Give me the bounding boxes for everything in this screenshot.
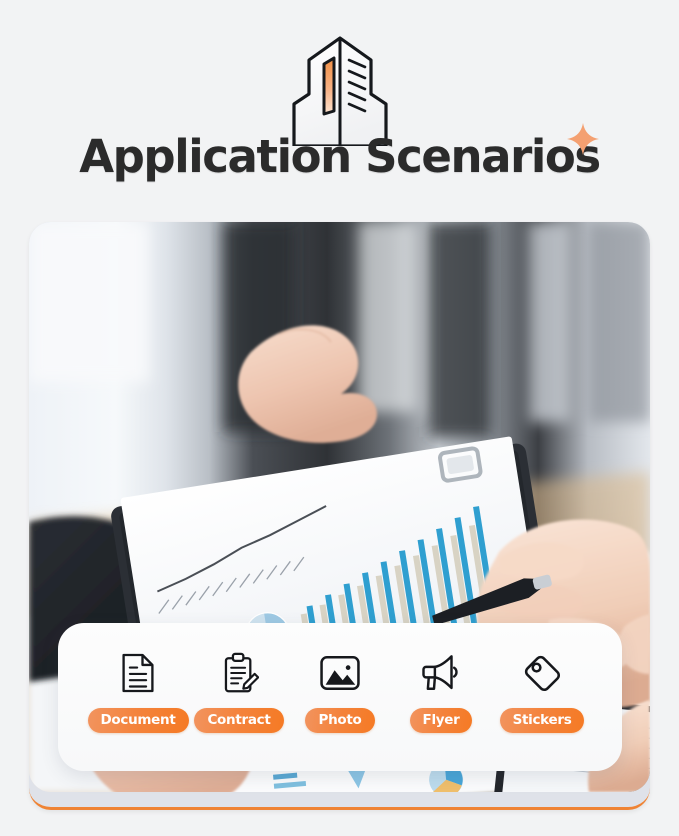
- sparkle-icon: [566, 122, 600, 156]
- scenario-item-flyer[interactable]: Flyer: [391, 650, 491, 733]
- scenario-label-photo[interactable]: Photo: [305, 708, 374, 733]
- scenario-label-stickers[interactable]: Stickers: [500, 708, 585, 733]
- stickers-icon: [522, 650, 562, 696]
- scenario-label-document[interactable]: Document: [88, 708, 189, 733]
- photo-icon: [319, 650, 361, 696]
- document-icon: [120, 650, 156, 696]
- flyer-icon: [420, 650, 462, 696]
- scenario-item-stickers[interactable]: Stickers: [492, 650, 592, 733]
- scenario-item-document[interactable]: Document: [88, 650, 188, 733]
- contract-icon: [219, 650, 259, 696]
- scenario-label-flyer[interactable]: Flyer: [410, 708, 473, 733]
- page-title-text: Application Scenarios: [79, 131, 600, 183]
- scenario-label-contract[interactable]: Contract: [194, 708, 283, 733]
- scenario-item-photo[interactable]: Photo: [290, 650, 390, 733]
- scenario-item-contract[interactable]: Contract: [189, 650, 289, 733]
- page-header: Application Scenarios: [0, 0, 679, 212]
- scenario-icon-card: Document Contract: [58, 623, 622, 771]
